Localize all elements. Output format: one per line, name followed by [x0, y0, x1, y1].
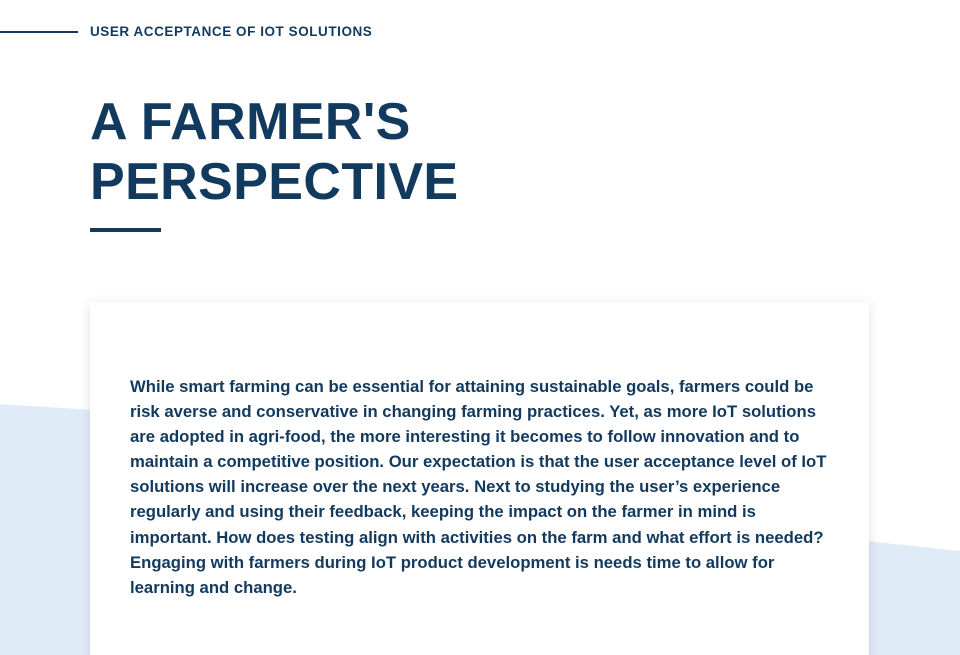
slide: USER ACCEPTANCE OF IOT SOLUTIONS A FARME…: [0, 0, 960, 655]
title-underline-rule: [90, 228, 161, 232]
decorative-shape-right: [866, 532, 960, 655]
eyebrow-rule: [0, 31, 78, 33]
content-card: While smart farming can be essential for…: [90, 302, 869, 655]
body-paragraph: While smart farming can be essential for…: [130, 374, 830, 600]
eyebrow-label: USER ACCEPTANCE OF IOT SOLUTIONS: [90, 25, 372, 39]
eyebrow: USER ACCEPTANCE OF IOT SOLUTIONS: [0, 22, 960, 42]
page-title: A FARMER'S PERSPECTIVE: [90, 92, 790, 212]
